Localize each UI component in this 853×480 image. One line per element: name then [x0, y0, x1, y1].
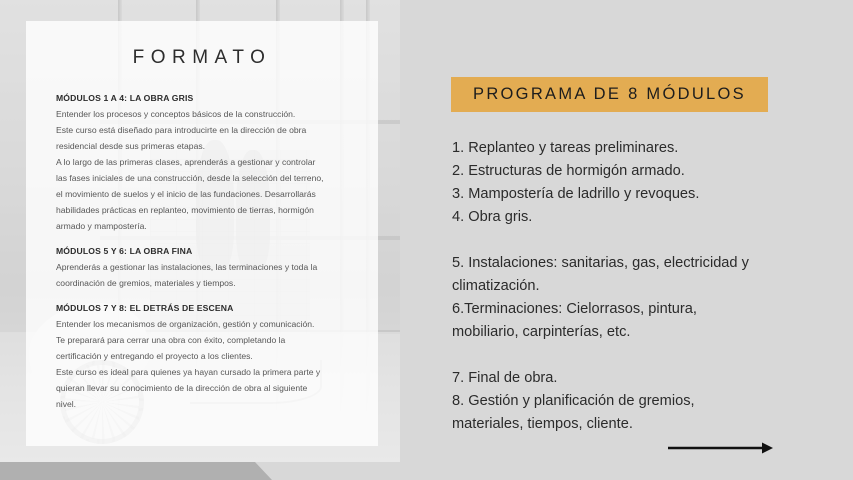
section-line: certificación y entregando el proyecto a…: [56, 348, 356, 364]
program-list-spacer: [452, 344, 782, 367]
program-list: 1. Replanteo y tareas preliminares. 2. E…: [452, 137, 782, 436]
section-line: Este curso está diseñado para introducir…: [56, 122, 356, 138]
program-list-item: 5. Instalaciones: sanitarias, gas, elect…: [452, 252, 782, 275]
program-list-item: 7. Final de obra.: [452, 367, 782, 390]
section-line: Te preparará para cerrar una obra con éx…: [56, 332, 356, 348]
section-line: Este curso es ideal para quienes ya haya…: [56, 364, 356, 380]
program-badge: PROGRAMA DE 8 MÓDULOS: [451, 77, 768, 112]
section-line: residencial desde sus primeras etapas.: [56, 138, 356, 154]
program-list-item: 6.Terminaciones: Cielorrasos, pintura,: [452, 298, 782, 321]
section-line: las fases iniciales de una construcción,…: [56, 170, 356, 186]
section-spacer: [56, 291, 356, 300]
formato-card: FORMATO MÓDULOS 1 A 4: LA OBRA GRIS Ente…: [26, 21, 378, 446]
program-badge-label: PROGRAMA DE 8 MÓDULOS: [473, 85, 746, 104]
bottom-accent-bar: [0, 462, 280, 480]
program-list-spacer: [452, 229, 782, 252]
section-heading-modules-1-4: MÓDULOS 1 A 4: LA OBRA GRIS: [56, 90, 356, 106]
program-list-item: climatización.: [452, 275, 782, 298]
section-line: habilidades prácticas en replanteo, movi…: [56, 202, 356, 218]
section-line: coordinación de gremios, materiales y ti…: [56, 275, 356, 291]
program-list-item: 2. Estructuras de hormigón armado.: [452, 160, 782, 183]
formato-sections: MÓDULOS 1 A 4: LA OBRA GRIS Entender los…: [56, 90, 356, 412]
section-line: armado y mampostería.: [56, 218, 356, 234]
program-list-item: 4. Obra gris.: [452, 206, 782, 229]
section-line: el movimiento de suelos y el inicio de l…: [56, 186, 356, 202]
section-heading-modules-7-8: MÓDULOS 7 Y 8: EL DETRÁS DE ESCENA: [56, 300, 356, 316]
program-list-item: 8. Gestión y planificación de gremios,: [452, 390, 782, 413]
section-line: Entender los mecanismos de organización,…: [56, 316, 356, 332]
program-list-item: 3. Mampostería de ladrillo y revoques.: [452, 183, 782, 206]
section-line: Aprenderás a gestionar las instalaciones…: [56, 259, 356, 275]
program-list-item: materiales, tiempos, cliente.: [452, 413, 782, 436]
section-line: Entender los procesos y conceptos básico…: [56, 106, 356, 122]
section-line: A lo largo de las primeras clases, apren…: [56, 154, 356, 170]
section-line: quieran llevar su conocimiento de la dir…: [56, 380, 356, 396]
section-spacer: [56, 234, 356, 243]
section-heading-modules-5-6: MÓDULOS 5 Y 6: LA OBRA FINA: [56, 243, 356, 259]
section-line: nivel.: [56, 396, 356, 412]
page-title: FORMATO: [26, 47, 378, 69]
slide-canvas: FORMATO MÓDULOS 1 A 4: LA OBRA GRIS Ente…: [0, 0, 853, 480]
arrow-right-icon: [668, 440, 774, 456]
program-list-item: mobiliario, carpinterías, etc.: [452, 321, 782, 344]
program-list-item: 1. Replanteo y tareas preliminares.: [452, 137, 782, 160]
